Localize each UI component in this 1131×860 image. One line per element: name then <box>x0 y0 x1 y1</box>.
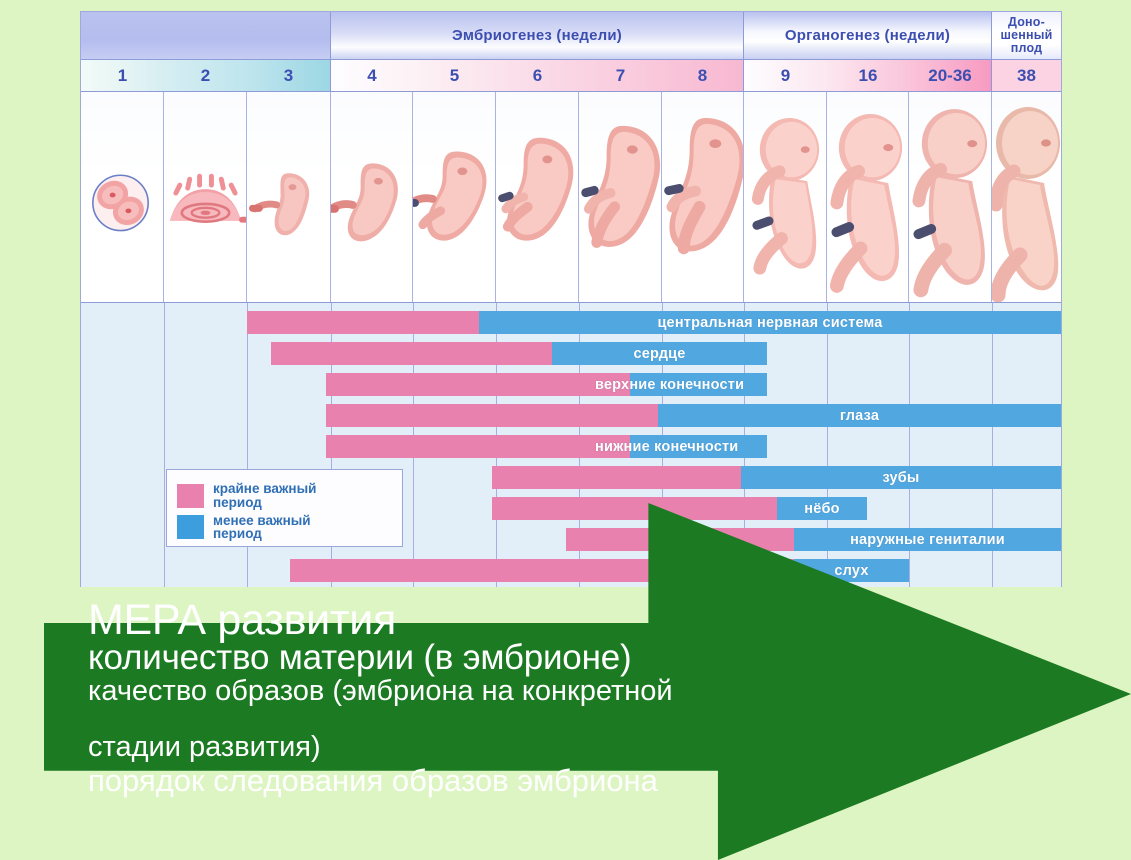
fetus-stage-image-week-16 <box>827 92 909 302</box>
gantt-segment-mild <box>552 342 767 365</box>
week-label-9: 9 <box>781 66 790 86</box>
gantt-segment-mild <box>630 435 767 458</box>
week-cell-16: 16 <box>827 60 909 91</box>
stage-group-embryogenesis-label: Эмбриогенез (недели) <box>452 28 622 43</box>
embryo-stage-image-week-5 <box>413 92 496 302</box>
week-cell-9: 9 <box>744 60 827 91</box>
stage-group-term-fetus: Доно- шенный плод <box>992 12 1061 59</box>
week-cell-3: 3 <box>247 60 331 91</box>
week-label-7: 7 <box>616 66 625 86</box>
week-label-8: 8 <box>698 66 707 86</box>
week-cell-4: 4 <box>331 60 413 91</box>
gantt-segment-mild <box>658 404 1061 427</box>
gantt-segment-critical <box>271 342 552 365</box>
chart-legend: крайне важный период менее важный период <box>166 469 403 547</box>
week-label-2: 2 <box>201 66 210 86</box>
gantt-segment-mild <box>741 466 1061 489</box>
gantt-row-heart: сердце <box>81 342 1061 365</box>
banner-line-quality-1: качество образов (эмбриона на конкретной <box>88 676 958 706</box>
week-cell-5: 5 <box>413 60 496 91</box>
stage-group-blank <box>81 12 331 59</box>
critical-periods-gantt: центральная нервная система сердце верхн… <box>81 303 1061 587</box>
week-label-1: 1 <box>118 66 127 86</box>
stage-group-term-fetus-label: Доно- шенный плод <box>1000 16 1052 54</box>
embryo-stage-image-week-8 <box>662 92 744 302</box>
fetus-stage-image-week-9 <box>744 92 827 302</box>
gantt-row-lower-limbs: нижние конечности <box>81 435 1061 458</box>
stage-group-embryogenesis: Эмбриогенез (недели) <box>331 12 744 59</box>
week-cell-38: 38 <box>992 60 1061 91</box>
embryo-stage-image-week-4 <box>331 92 413 302</box>
embryo-illustrations-row <box>81 92 1061 303</box>
gantt-row-hearing: слух <box>81 559 1061 582</box>
stage-header-row: Эмбриогенез (недели) Органогенез (недели… <box>81 12 1061 59</box>
banner-line-quantity: количество материи (в эмбрионе) <box>88 640 958 676</box>
fetus-stage-image-week-20-36 <box>909 92 992 302</box>
fetus-stage-image-week-38 <box>992 92 1061 302</box>
week-cell-2: 2 <box>164 60 247 91</box>
gantt-segment-mild <box>479 311 1061 334</box>
embryo-stage-image-week-7 <box>579 92 662 302</box>
gantt-segment-mild <box>794 528 1061 551</box>
week-label-4: 4 <box>367 66 376 86</box>
week-label-6: 6 <box>533 66 542 86</box>
banner-line-order: порядок следования образов эмбриона <box>88 765 958 798</box>
stage-group-organogenesis: Органогенез (недели) <box>744 12 992 59</box>
week-label-16: 16 <box>859 66 878 86</box>
embryo-stage-image-week-3 <box>247 92 331 302</box>
embryo-stage-image-week-6 <box>496 92 579 302</box>
gantt-segment-critical <box>326 404 658 427</box>
week-label-38: 38 <box>1017 66 1036 86</box>
embryo-stage-image-week-2 <box>164 92 247 302</box>
banner-title: МЕРА развития <box>88 600 958 640</box>
legend-label-mild: менее важный период <box>213 514 311 542</box>
stage-group-organogenesis-label: Органогенез (недели) <box>785 28 950 43</box>
week-cell-8: 8 <box>662 60 744 91</box>
legend-item-critical: крайне важный период <box>177 482 390 510</box>
weeks-row: 1 2 3 4 5 6 7 8 9 16 20-36 38 <box>81 59 1061 92</box>
legend-item-mild: менее важный период <box>177 514 390 542</box>
legend-label-critical: крайне важный период <box>213 482 316 510</box>
banner-line-quality-2: стадии развития) <box>88 732 958 762</box>
week-label-20-36: 20-36 <box>928 66 971 86</box>
gantt-segment-mild <box>777 497 867 520</box>
week-cell-1: 1 <box>81 60 164 91</box>
legend-swatch-critical <box>177 484 204 508</box>
week-cell-7: 7 <box>579 60 662 91</box>
gantt-segment-critical <box>492 497 777 520</box>
gantt-segment-critical <box>326 373 630 396</box>
week-cell-6: 6 <box>496 60 579 91</box>
gantt-row-cns: центральная нервная система <box>81 311 1061 334</box>
embryo-stage-image-week-1 <box>81 92 164 302</box>
gantt-segment-critical <box>492 466 741 489</box>
banner-text-block: МЕРА развития количество материи (в эмбр… <box>88 600 958 797</box>
week-label-5: 5 <box>450 66 459 86</box>
legend-swatch-mild <box>177 515 204 539</box>
gantt-segment-mild <box>630 373 767 396</box>
development-chart-panel: Эмбриогенез (недели) Органогенез (недели… <box>80 11 1062 587</box>
gantt-segment-critical <box>326 435 630 458</box>
gantt-row-eyes: глаза <box>81 404 1061 427</box>
week-label-3: 3 <box>284 66 293 86</box>
week-cell-20-36: 20-36 <box>909 60 992 91</box>
gantt-row-upper-limbs: верхние конечности <box>81 373 1061 396</box>
gantt-segment-critical <box>247 311 479 334</box>
